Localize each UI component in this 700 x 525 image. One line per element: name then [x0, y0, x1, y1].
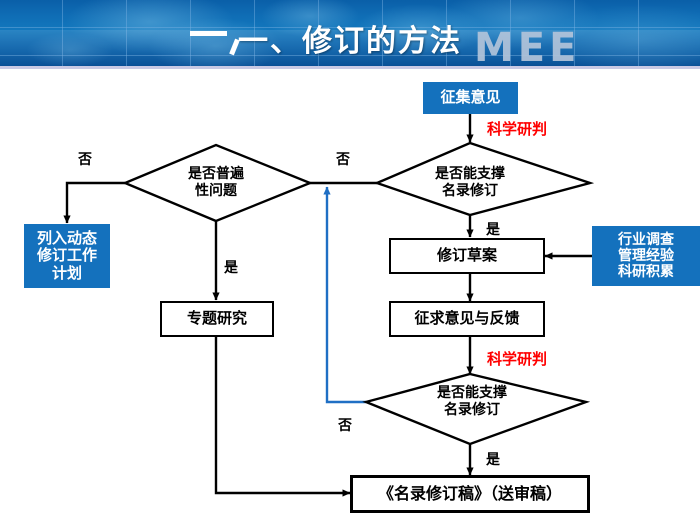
node-industry-inputs[interactable]: 行业调查 管理经验 科研积累	[592, 226, 700, 286]
flowchart: 征集意见 是否能支撑 名录修订 是否普遍 性问题 列入动态 修订工作 计划 专题…	[0, 69, 700, 525]
diamond-universal-problem	[125, 145, 310, 221]
node-special-research[interactable]: 专题研究	[160, 301, 274, 337]
edge-label-yes-left: 是	[224, 257, 238, 277]
node-collect-opinions[interactable]: 征集意见	[423, 82, 518, 114]
edge-label-no-left: 否	[78, 149, 92, 169]
edge-label-scientific-judgment-bottom: 科学研判	[487, 348, 547, 369]
edge-label-yes-right-top: 是	[486, 219, 500, 239]
node-dynamic-revision-plan[interactable]: 列入动态 修订工作 计划	[24, 224, 110, 288]
flowchart-connectors	[0, 69, 700, 525]
node-solicit-feedback[interactable]: 征求意见与反馈	[389, 301, 545, 337]
edge-label-scientific-judgment-top: 科学研判	[487, 118, 547, 139]
edge-label-no-top-middle: 否	[336, 149, 350, 169]
diamond-support-revision-1	[377, 143, 590, 215]
edge-label-no-bottom: 否	[338, 415, 352, 435]
page-title: 一、修订的方法	[0, 16, 700, 60]
edge-label-yes-bottom: 是	[486, 449, 500, 469]
diamond-support-revision-2	[366, 374, 586, 444]
node-revision-draft[interactable]: 修订草案	[389, 238, 545, 274]
node-final-draft[interactable]: 《名录修订稿》（送审稿）	[350, 475, 590, 513]
